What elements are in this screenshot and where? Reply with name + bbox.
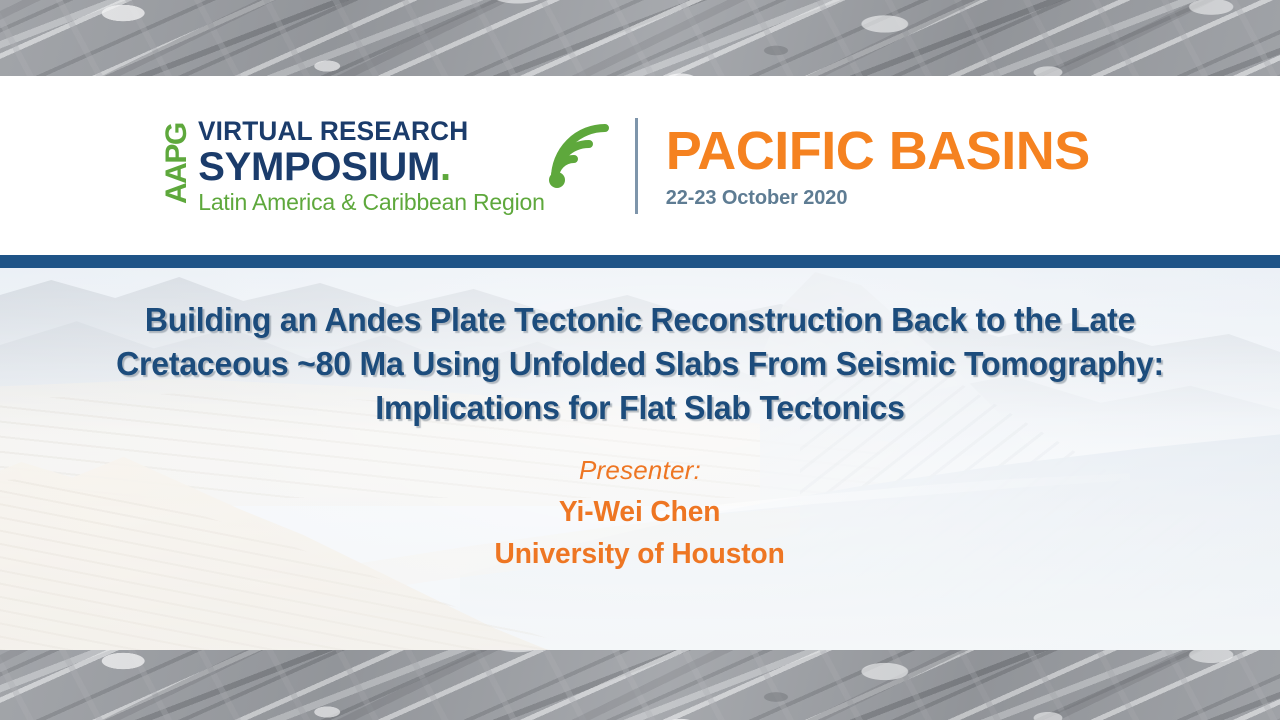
event-dates: 22-23 October 2020	[666, 188, 1090, 208]
virtual-research-text: VIRTUAL RESEARCH	[198, 118, 468, 145]
lockup-divider	[635, 118, 638, 214]
rock-texture-band-top	[0, 0, 1280, 76]
navy-divider-bar	[0, 255, 1280, 268]
aapg-wordmark: AAPG	[162, 121, 192, 207]
presenter-name: Yi-Wei Chen	[495, 498, 785, 527]
texture-shading-layer	[0, 650, 1280, 720]
event-title: PACIFIC BASINS	[666, 124, 1090, 178]
event-title-group: PACIFIC BASINS 22-23 October 2020	[666, 124, 1090, 208]
symposium-text: SYMPOSIUM	[198, 147, 440, 187]
aapg-event-lockup: AAPG VIRTUAL RESEARCH SYMPOSIUM . Latin …	[162, 118, 1090, 214]
aapg-symposium-logo: AAPG VIRTUAL RESEARCH SYMPOSIUM . Latin …	[162, 118, 608, 214]
wifi-signal-icon	[549, 122, 609, 196]
region-subtitle-text: Latin America & Caribbean Region	[198, 191, 544, 214]
logo-header-band: AAPG VIRTUAL RESEARCH SYMPOSIUM . Latin …	[0, 76, 1280, 255]
symposium-line2-row: SYMPOSIUM .	[198, 147, 544, 187]
symposium-dot: .	[440, 147, 451, 187]
title-slide: AAPG VIRTUAL RESEARCH SYMPOSIUM . Latin …	[0, 0, 1280, 720]
presenter-block: Presenter: Yi-Wei Chen University of Hou…	[490, 457, 789, 569]
slide-content: Building an Andes Plate Tectonic Reconst…	[0, 268, 1280, 650]
presentation-title: Building an Andes Plate Tectonic Reconst…	[86, 299, 1194, 431]
presenter-affiliation: University of Houston	[495, 540, 785, 569]
symposium-wordmark-text: VIRTUAL RESEARCH SYMPOSIUM . Latin Ameri…	[198, 118, 544, 214]
logo-lockup-container: AAPG VIRTUAL RESEARCH SYMPOSIUM . Latin …	[0, 76, 1280, 255]
texture-shading-layer	[0, 0, 1280, 76]
presenter-label: Presenter:	[490, 457, 789, 483]
rock-texture-band-bottom	[0, 650, 1280, 720]
symposium-line1-row: VIRTUAL RESEARCH	[198, 118, 544, 145]
